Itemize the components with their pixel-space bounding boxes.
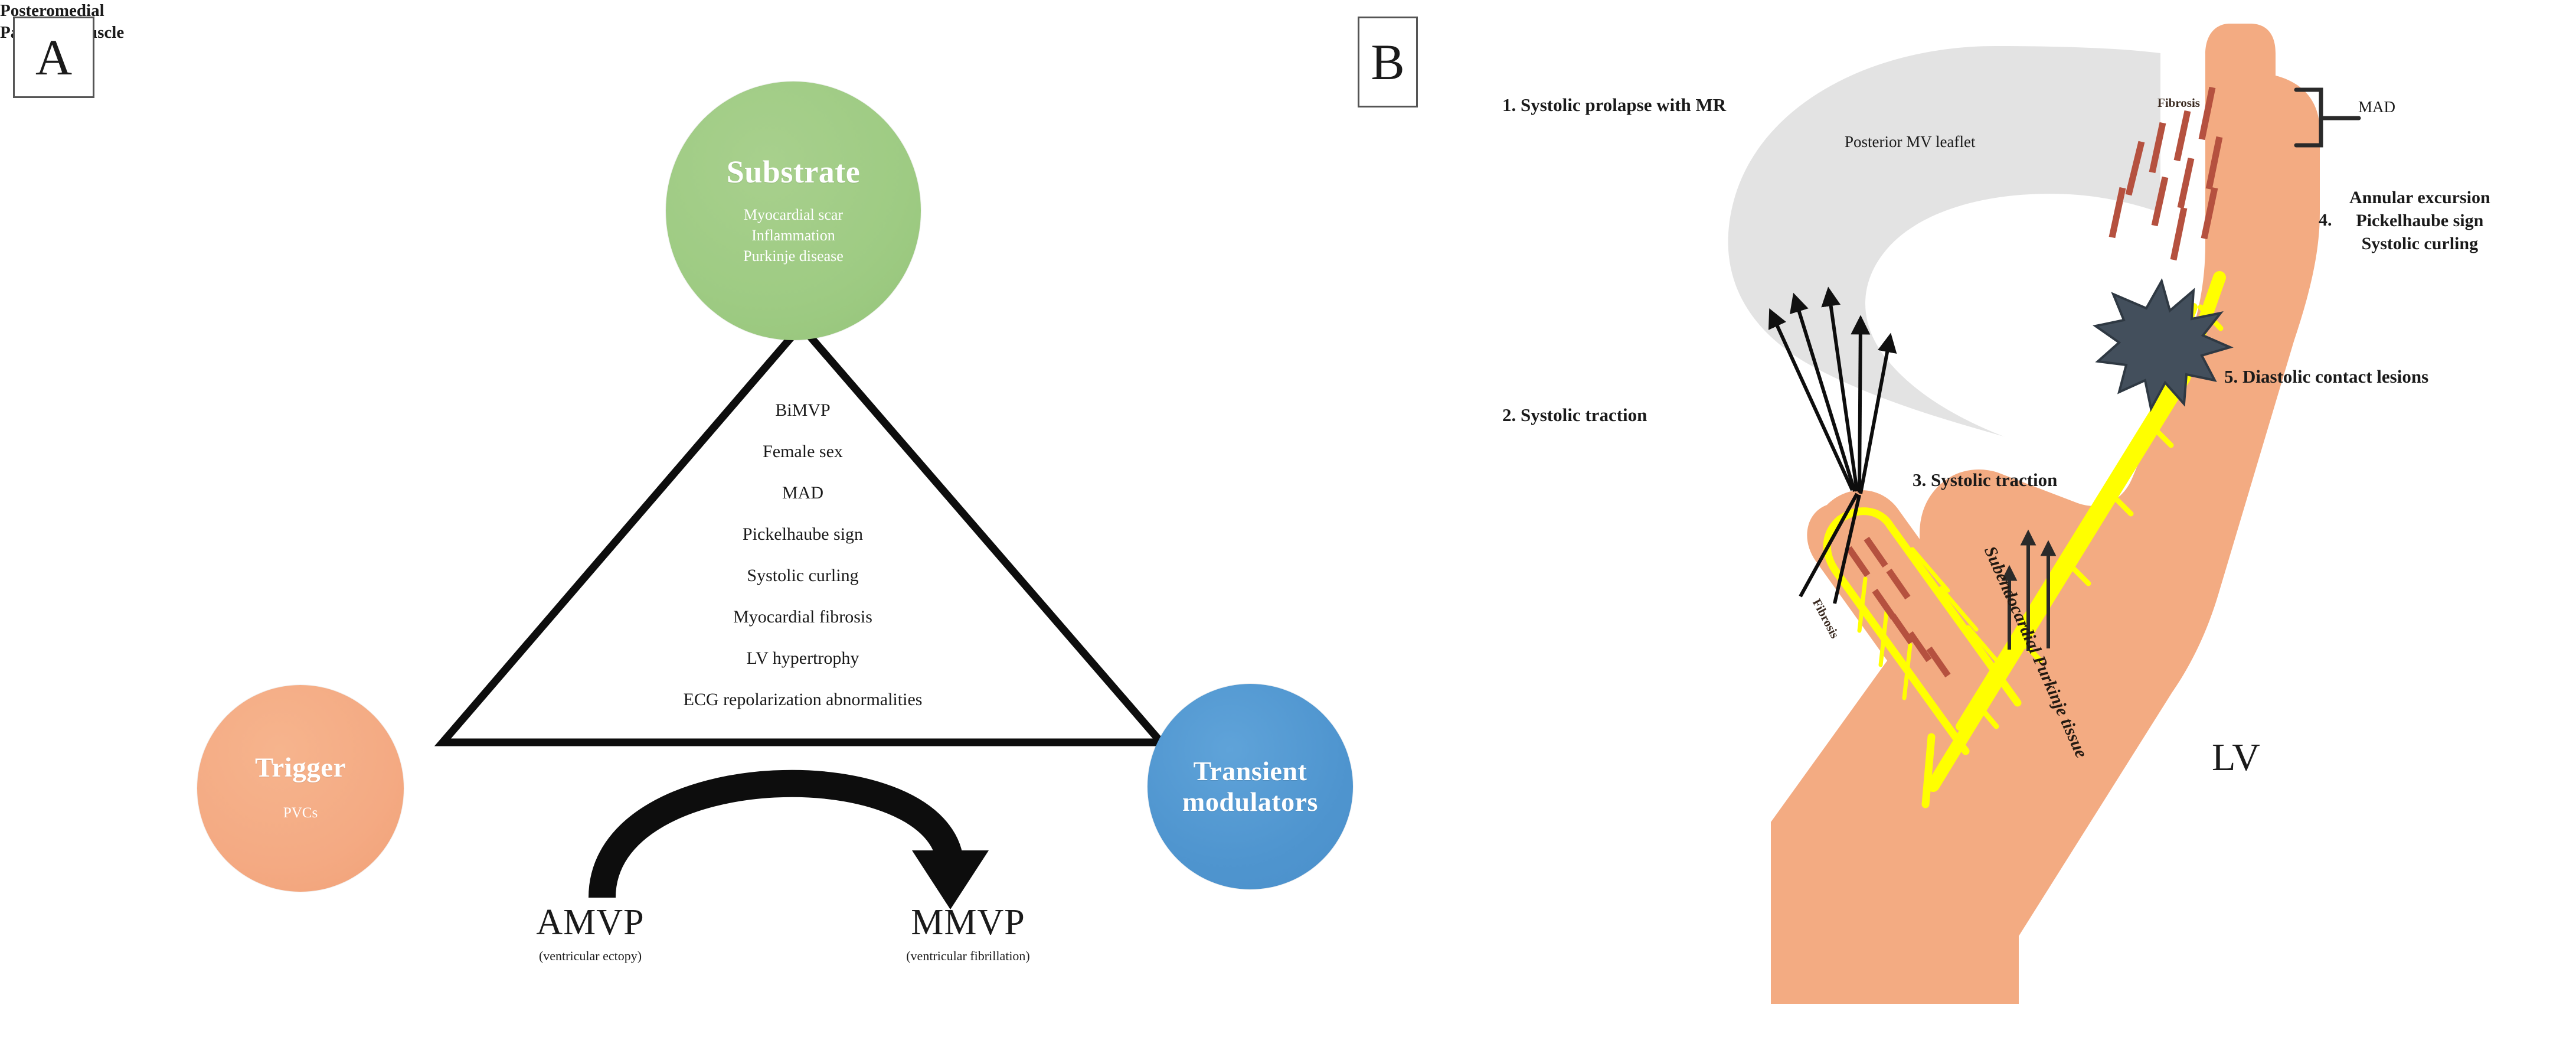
lv-myocardium-shape <box>1771 24 2320 1004</box>
step-1-label: 1. Systolic prolapse with MR <box>1502 94 1726 116</box>
progression-arrow <box>602 784 989 909</box>
fibrosis-marks-wall <box>2112 87 2219 260</box>
step-5-label: 5. Diastolic contact lesions <box>2224 366 2428 387</box>
node-modulators-title-line2: modulators <box>1182 787 1318 817</box>
figure-root: A B Substrate Myocardial scar Inflammati… <box>0 0 2576 1050</box>
step-4-group: 4. Annular excursion Pickelhaube sign Sy… <box>2349 186 2490 255</box>
fibrosis-marks-papillary <box>1849 539 1948 676</box>
node-substrate-sub-1: Myocardial scar <box>744 204 843 225</box>
node-trigger-title: Trigger <box>255 754 346 782</box>
mad-bracket <box>2296 90 2359 145</box>
systolic-traction-chordae-arrows <box>1771 291 1890 604</box>
risk-factor-item: LV hypertrophy <box>747 638 859 679</box>
posterior-mv-leaflet-label: Posterior MV leaflet <box>1845 133 1975 151</box>
step-4-number: 4. <box>2319 208 2332 231</box>
step-4-line-3: Systolic curling <box>2349 232 2490 255</box>
node-transient-modulators: Transient modulators <box>1148 684 1353 889</box>
risk-factor-item: ECG repolarization abnormalities <box>684 679 923 720</box>
step-3-label: 3. Systolic traction <box>1913 469 2057 491</box>
node-substrate: Substrate Myocardial scar Inflammation P… <box>666 81 921 340</box>
lv-label: LV <box>2212 735 2260 780</box>
risk-factor-item: Female sex <box>763 431 843 472</box>
purkinje-tissue-label: Subendocardial Purkinje tissue <box>1980 543 2091 761</box>
node-trigger: Trigger PVCs <box>197 685 404 892</box>
node-substrate-sub-3: Purkinje disease <box>743 246 844 266</box>
outcome-mmvp: MMVP (ventricular fibrillation) <box>815 904 1122 966</box>
fibrosis-label-wall: Fibrosis <box>2157 96 2200 110</box>
fibrosis-label-papillary: Fibrosis <box>1809 596 1842 641</box>
risk-factor-item: Pickelhaube sign <box>743 514 863 555</box>
risk-factor-item: MAD <box>782 472 823 514</box>
risk-factor-item: Systolic curling <box>747 555 858 596</box>
step-4-line-2: Pickelhaube sign <box>2349 209 2490 232</box>
mad-label: MAD <box>2358 98 2395 116</box>
node-modulators-title-line1: Transient <box>1194 756 1307 787</box>
outcome-mmvp-label: MMVP <box>815 904 1122 942</box>
node-trigger-sub-1: PVCs <box>283 803 318 823</box>
posterior-mv-leaflet-shape <box>1728 46 2160 467</box>
risk-factor-item: BiMVP <box>775 390 830 431</box>
risk-factor-list: BiMVP Female sex MAD Pickelhaube sign Sy… <box>446 390 1160 720</box>
outcome-amvp-sublabel: (ventricular ectopy) <box>466 945 714 966</box>
outcome-amvp-label: AMVP <box>466 904 714 942</box>
outcome-mmvp-sublabel: (ventricular fibrillation) <box>815 945 1122 966</box>
diastolic-contact-lesion-star <box>2096 281 2230 409</box>
node-substrate-sub-2: Inflammation <box>751 225 835 246</box>
step-4-line-1: Annular excursion <box>2349 186 2490 209</box>
node-substrate-title: Substrate <box>727 155 861 189</box>
papillary-muscle-shape <box>1807 490 2034 760</box>
vector-art-layer <box>0 0 2576 1050</box>
panel-b-letter: B <box>1358 17 1418 107</box>
risk-factor-item: Myocardial fibrosis <box>733 596 872 638</box>
panel-a-letter: A <box>13 17 94 98</box>
outcome-amvp: AMVP (ventricular ectopy) <box>466 904 714 966</box>
step-2-label: 2. Systolic traction <box>1502 405 1647 426</box>
